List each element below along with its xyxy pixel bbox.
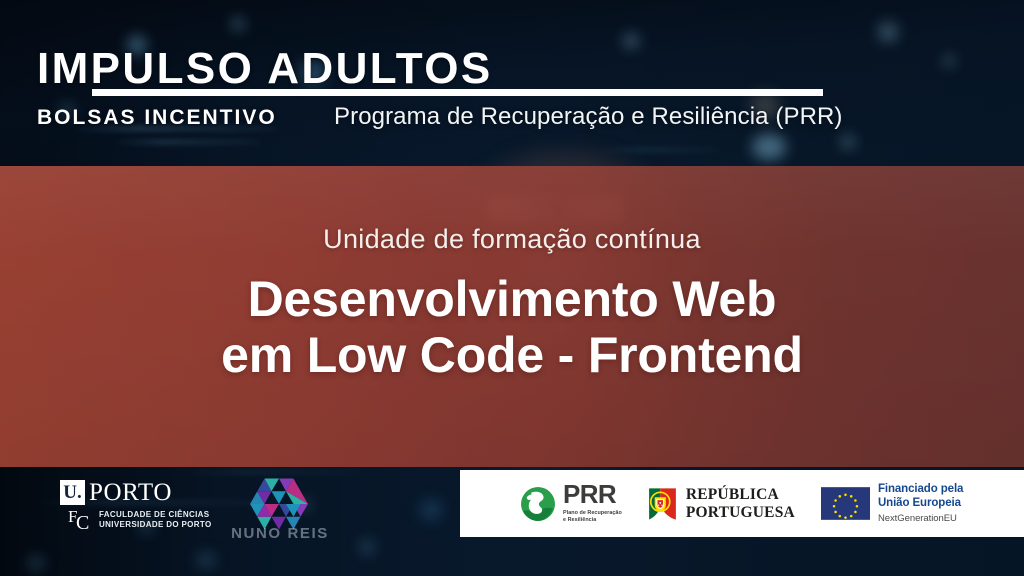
title-block: Unidade de formação contínua Desenvolvim… bbox=[0, 225, 1024, 383]
republica-portuguesa-logo: REPÚBLICA PORTUGUESA bbox=[648, 486, 795, 522]
prr-logo: PRR Plano de Recuperação e Resiliência bbox=[520, 482, 622, 525]
programme-label: Programa de Recuperação e Resiliência (P… bbox=[334, 105, 843, 129]
uporto-porto-word: PORTO bbox=[89, 480, 172, 505]
uporto-faculty-row: F C FACULDADE DE CIÊNCIAS UNIVERSIDADE D… bbox=[68, 507, 240, 533]
course-title: Desenvolvimento Web em Low Code - Fronte… bbox=[0, 271, 1024, 383]
hexagon-icon bbox=[250, 478, 308, 530]
faculty-line-1: FACULDADE DE CIÊNCIAS bbox=[99, 510, 209, 519]
prr-globe-icon bbox=[520, 486, 556, 522]
eu-flag-icon bbox=[821, 487, 870, 520]
eu-line-1: Financiado pela bbox=[878, 483, 963, 497]
funding-logos-bar: PRR Plano de Recuperação e Resiliência bbox=[460, 470, 1024, 537]
brand-underline bbox=[92, 89, 823, 96]
brand-title: IMPULSO ADULTOS bbox=[37, 47, 493, 91]
prr-subtitle-line-1: Plano de Recuperação bbox=[563, 510, 622, 516]
eu-line-3: NextGenerationEU bbox=[878, 513, 963, 524]
fc-monogram-icon: F C bbox=[68, 507, 96, 533]
eu-text-block: Financiado pela União Europeia NextGener… bbox=[878, 483, 963, 524]
course-title-line-1: Desenvolvimento Web bbox=[0, 271, 1024, 327]
republica-line-1: REPÚBLICA bbox=[686, 486, 795, 503]
prr-subtitle: Plano de Recuperação e Resiliência bbox=[563, 510, 622, 526]
republica-line-2: PORTUGUESA bbox=[686, 504, 795, 521]
fc-letter-c: C bbox=[76, 513, 89, 533]
prr-acronym: PRR bbox=[563, 482, 622, 507]
portugal-shield-icon bbox=[648, 486, 677, 522]
course-eyebrow: Unidade de formação contínua bbox=[0, 225, 1024, 255]
eu-line-2: União Europeia bbox=[878, 497, 963, 511]
course-title-line-2: em Low Code - Frontend bbox=[0, 327, 1024, 383]
funding-logos-row: PRR Plano de Recuperação e Resiliência bbox=[460, 482, 963, 525]
faculty-line-2: UNIVERSIDADE DO PORTO bbox=[99, 520, 212, 529]
nuno-reis-wordmark: NUNO REIS bbox=[226, 526, 334, 541]
presentation-slide: IMPULSO ADULTOS BOLSAS INCENTIVO Program… bbox=[0, 0, 1024, 576]
slide-header: IMPULSO ADULTOS BOLSAS INCENTIVO Program… bbox=[0, 0, 1024, 166]
uporto-logo: U. PORTO F C FACULDADE DE CIÊNCIAS UNIVE… bbox=[60, 479, 240, 535]
data-streak bbox=[180, 470, 360, 474]
prr-text-block: PRR Plano de Recuperação e Resiliência bbox=[563, 482, 622, 525]
uporto-u-mark: U. bbox=[60, 480, 85, 505]
nuno-reis-logo: NUNO REIS bbox=[226, 478, 334, 536]
republica-text: REPÚBLICA PORTUGUESA bbox=[686, 486, 795, 521]
uporto-faculty-text: FACULDADE DE CIÊNCIAS UNIVERSIDADE DO PO… bbox=[99, 510, 212, 530]
prr-subtitle-line-2: e Resiliência bbox=[563, 517, 596, 523]
uporto-primary-row: U. PORTO bbox=[60, 479, 240, 505]
brand-subtitle: BOLSAS INCENTIVO bbox=[37, 107, 277, 128]
eu-funding-logo: Financiado pela União Europeia NextGener… bbox=[821, 483, 963, 524]
